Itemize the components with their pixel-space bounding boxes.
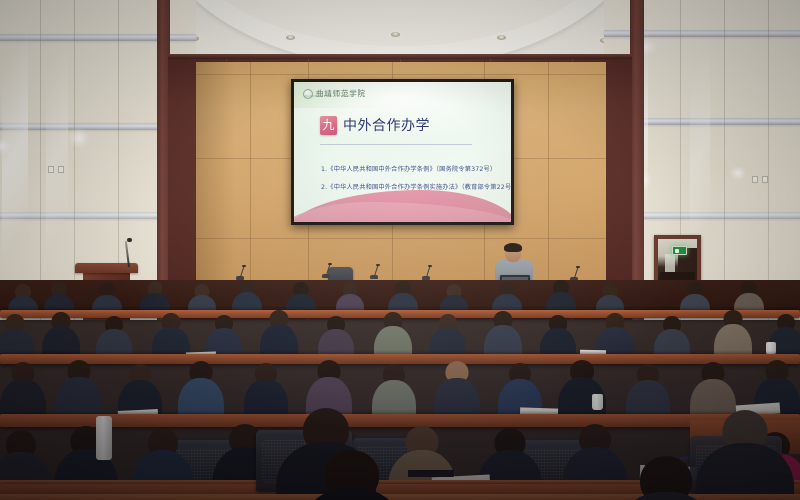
desk-device [408,470,454,477]
wall-seam [40,0,41,320]
presentation-slide: 曲靖师范学院 QUJING NORMAL UNIVERSITY 九 中外合作办学… [294,82,511,222]
wall-seam [724,0,725,320]
audience-person [260,310,298,360]
desk-cup [592,394,603,410]
lectern-microphone-icon [127,238,132,242]
audience-person [56,360,102,420]
lecture-hall-photo: 曲靖师范学院 QUJING NORMAL UNIVERSITY 九 中外合作办学… [0,0,800,500]
audience-person [152,313,190,360]
table-microphone-icon [322,274,330,278]
audience-person [178,361,224,420]
table-microphone-icon [370,275,378,279]
wall-outlet [48,166,54,173]
audience-person [42,312,80,360]
audience-person [546,280,576,314]
audience-person [374,312,412,360]
backdrop-seam [548,62,549,288]
audience-person-foreground [292,450,412,500]
audience-person [558,360,606,420]
wall-glare [2,0,28,320]
exit-sign-glyph [675,249,679,253]
water-bottle [96,416,112,460]
backdrop-shadow [196,62,266,288]
exit-sign-icon [672,246,687,255]
audience-person [626,364,670,420]
slide-vignette [294,82,511,222]
presenter-hair [504,243,522,252]
wall-glare [46,0,68,320]
wall-light-reflection [730,166,746,180]
audience-person [372,364,416,420]
wall-outlet [752,176,758,183]
wall-seam [768,0,769,320]
wall-light-reflection [68,128,90,148]
ceiling-downlight [286,35,295,40]
back-wall-trim [168,54,632,59]
projection-screen: 曲靖师范学院 QUJING NORMAL UNIVERSITY 九 中外合作办学… [291,79,514,225]
audience-person [0,362,46,420]
ceiling-downlight [497,35,506,40]
wall-light-reflection [0,138,12,154]
wall-outlet [762,176,768,183]
audience-person-foreground [608,456,724,500]
right-corner-wall [630,0,644,320]
audience-person [484,311,522,360]
wall-outlet [58,166,64,173]
audience-person [714,310,752,360]
audience-seating-area [0,280,800,500]
audience-person [232,280,262,314]
audience-desk-row [0,354,800,364]
audience-person [434,361,480,420]
ceiling-downlight [391,32,400,37]
